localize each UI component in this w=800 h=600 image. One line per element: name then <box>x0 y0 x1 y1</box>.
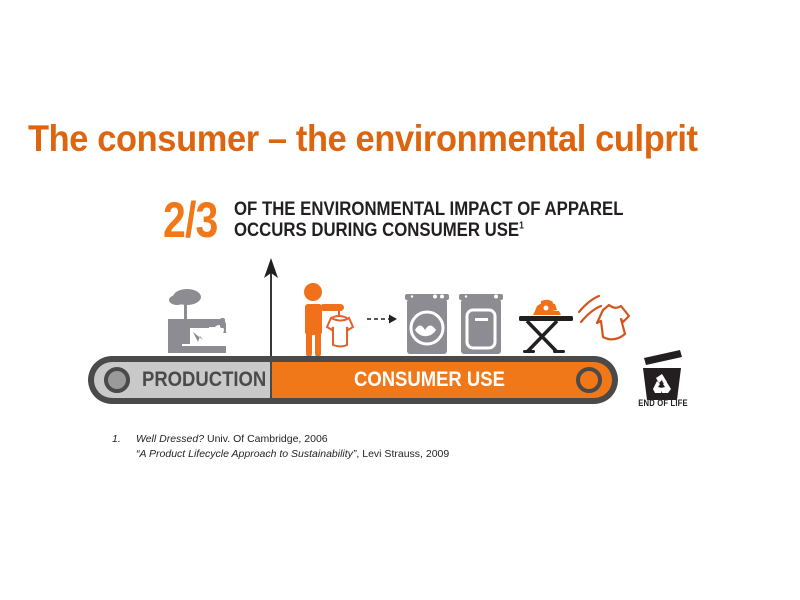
illustration-stage: PRODUCTION CONSUMER USE END OF LIFE <box>0 0 800 600</box>
headline-block: 2/3 OF THE ENVIRONMENTAL IMPACT OF APPAR… <box>163 196 686 244</box>
dryer-icon <box>459 294 503 354</box>
conveyor-belt: PRODUCTION CONSUMER USE <box>88 356 618 404</box>
iron-icon <box>533 300 561 315</box>
hanging-shirt-icon <box>327 311 353 347</box>
tossed-shirt-icon <box>577 292 633 354</box>
belt-label-production: PRODUCTION <box>142 368 266 392</box>
footnote-line-1: Well Dressed? Univ. Of Cambridge, 2006 <box>136 433 328 445</box>
belt-segment-consumer[interactable]: CONSUMER USE <box>272 362 612 398</box>
footnote-line-1-title: Well Dressed? <box>136 433 204 445</box>
headline-line-1: OF THE ENVIRONMENTAL IMPACT OF APPAREL <box>234 199 623 220</box>
footnote: 1. Well Dressed? Univ. Of Cambridge, 200… <box>112 432 449 462</box>
sewing-machine-icon <box>160 288 244 358</box>
footnote-line-1-rest: Univ. Of Cambridge, 2006 <box>204 433 328 445</box>
headline-line-2-wrap: OCCURS DURING CONSUMER USE1 <box>234 220 623 241</box>
headline-line-2: OCCURS DURING CONSUMER USE <box>234 219 519 241</box>
belt-roller-left <box>104 367 130 393</box>
footnote-line-2-rest: , Levi Strauss, 2009 <box>356 448 449 460</box>
headline-fraction: 2/3 <box>163 196 218 244</box>
headline-text: OF THE ENVIRONMENTAL IMPACT OF APPAREL O… <box>234 199 623 241</box>
person-icon <box>298 282 364 358</box>
page-title: The consumer – the environmental culprit <box>28 118 726 160</box>
footnote-marker: 1. <box>112 432 136 462</box>
laundry-appliances <box>403 290 507 356</box>
recycle-bin-icon <box>630 348 692 402</box>
belt-label-consumer: CONSUMER USE <box>354 368 505 392</box>
footnote-line-2-title: “A Product Lifecycle Approach to Sustain… <box>136 448 356 460</box>
belt-roller-right <box>576 367 602 393</box>
slide-canvas: The consumer – the environmental culprit… <box>0 0 800 600</box>
headline-footnote-marker: 1 <box>519 221 524 232</box>
dashed-arrow-right-icon <box>367 313 401 325</box>
ironing-board-icon <box>515 294 577 356</box>
footnote-line-2: “A Product Lifecycle Approach to Sustain… <box>136 448 449 460</box>
up-arrow-icon <box>258 258 284 362</box>
belt-track: PRODUCTION CONSUMER USE <box>94 362 612 398</box>
washing-machine-icon <box>405 294 449 354</box>
end-of-life-label: END OF LIFE <box>632 398 695 408</box>
